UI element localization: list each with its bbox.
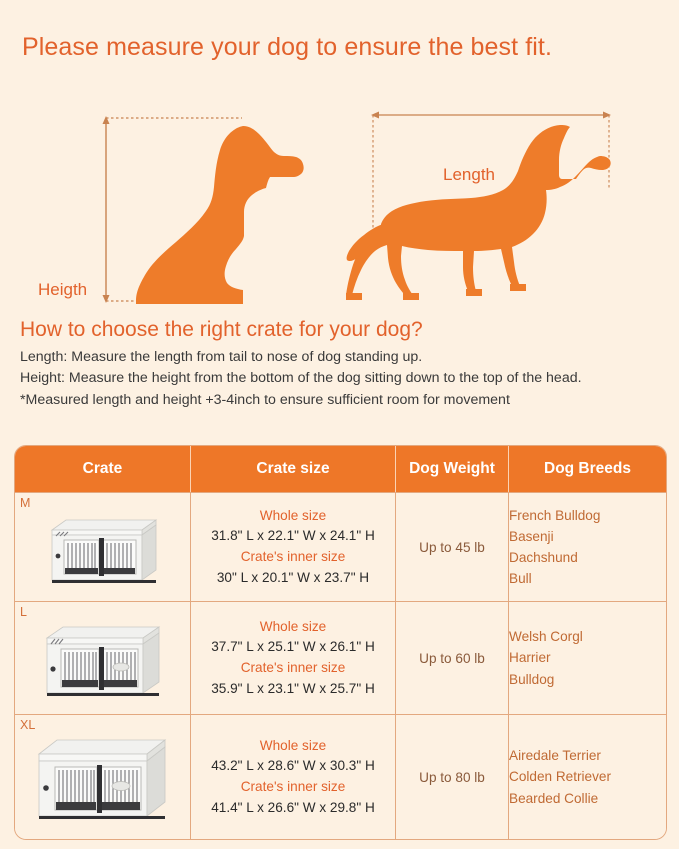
crate-size-code: L <box>20 605 27 619</box>
dog-weight-cell: Up to 60 lb <box>396 601 509 714</box>
whole-size-value: 37.7" L x 25.1" W x 26.1" H <box>191 637 395 658</box>
whole-size-label: Whole size <box>191 617 395 638</box>
diagram-svg <box>0 80 679 320</box>
table-row: XL <box>15 714 666 839</box>
breed-item: Bearded Collie <box>509 788 666 809</box>
crate-size-code: XL <box>20 718 35 732</box>
breed-item: Bulldog <box>509 669 666 690</box>
table-row: M <box>15 492 666 601</box>
dog-breeds-cell: Airedale Terrier Colden Retriever Bearde… <box>509 714 666 839</box>
height-arrow-bottom <box>103 295 110 303</box>
inner-size-value: 30" L x 20.1" W x 23.7" H <box>191 568 395 589</box>
howto-heading: How to choose the right crate for your d… <box>20 318 423 342</box>
inner-size-label: Crate's inner size <box>191 658 395 679</box>
whole-size-label: Whole size <box>191 506 395 527</box>
dog-weight-cell: Up to 80 lb <box>396 714 509 839</box>
crate-cell: M <box>15 492 191 601</box>
table-header-row: Crate Crate size Dog Weight Dog Breeds <box>15 446 666 492</box>
crate-cell: XL <box>15 714 191 839</box>
column-header-crate-size: Crate size <box>191 446 396 492</box>
page-title: Please measure your dog to ensure the be… <box>22 33 552 62</box>
crate-image-m <box>15 493 190 601</box>
inner-size-value: 41.4" L x 26.6" W x 29.8" H <box>191 798 395 819</box>
breed-item: Harrier <box>509 647 666 668</box>
length-arrow-left <box>371 112 379 119</box>
size-guide-page: Please measure your dog to ensure the be… <box>0 0 679 849</box>
table-row: L <box>15 601 666 714</box>
howto-line-note: *Measured length and height +3-4inch to … <box>20 391 665 410</box>
crate-size-table: Crate Crate size Dog Weight Dog Breeds M <box>14 445 667 840</box>
sitting-dog-silhouette <box>136 126 304 304</box>
crate-image-l <box>15 602 190 714</box>
inner-size-value: 35.9" L x 23.1" W x 25.7" H <box>191 679 395 700</box>
whole-size-value: 43.2" L x 28.6" W x 30.3" H <box>191 756 395 777</box>
howto-line-height: Height: Measure the height from the bott… <box>20 369 665 388</box>
column-header-dog-weight: Dog Weight <box>396 446 509 492</box>
dog-breeds-cell: French Bulldog Basenji Dachshund Bull <box>509 492 666 601</box>
breed-item: Colden Retriever <box>509 766 666 787</box>
crate-image-xl <box>15 715 190 839</box>
howto-line-length: Length: Measure the length from tail to … <box>20 348 665 367</box>
whole-size-label: Whole size <box>191 736 395 757</box>
crate-size-code: M <box>20 496 30 510</box>
length-arrow-right <box>603 112 611 119</box>
crate-size-cell: Whole size 31.8" L x 22.1" W x 24.1" H C… <box>191 492 396 601</box>
column-header-dog-breeds: Dog Breeds <box>509 446 666 492</box>
column-header-crate: Crate <box>15 446 191 492</box>
howto-body: Length: Measure the length from tail to … <box>20 348 665 412</box>
dog-weight-cell: Up to 45 lb <box>396 492 509 601</box>
height-arrow-top <box>103 116 110 124</box>
inner-size-label: Crate's inner size <box>191 547 395 568</box>
breed-item: Basenji <box>509 526 666 547</box>
crate-size-cell: Whole size 43.2" L x 28.6" W x 30.3" H C… <box>191 714 396 839</box>
inner-size-label: Crate's inner size <box>191 777 395 798</box>
standing-dog-silhouette <box>346 125 611 300</box>
whole-size-value: 31.8" L x 22.1" W x 24.1" H <box>191 526 395 547</box>
crate-cell: L <box>15 601 191 714</box>
breed-item: Bull <box>509 568 666 589</box>
breed-item: Dachshund <box>509 547 666 568</box>
breed-item: Airedale Terrier <box>509 745 666 766</box>
breed-item: French Bulldog <box>509 505 666 526</box>
dog-breeds-cell: Welsh Corgl Harrier Bulldog <box>509 601 666 714</box>
measurement-diagram: Heigth Length <box>0 80 679 320</box>
crate-size-cell: Whole size 37.7" L x 25.1" W x 26.1" H C… <box>191 601 396 714</box>
breed-item: Welsh Corgl <box>509 626 666 647</box>
